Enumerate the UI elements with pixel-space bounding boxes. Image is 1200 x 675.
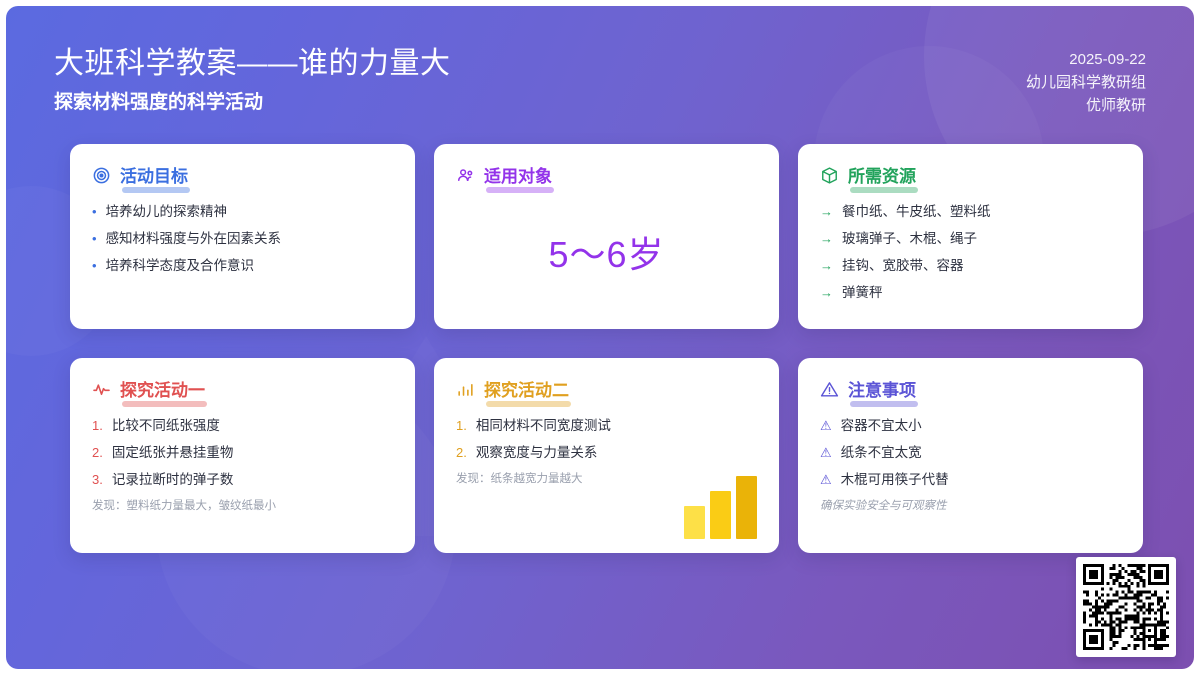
header-meta: 2025-09-22 幼儿园科学教研组 优师教研 bbox=[1026, 48, 1146, 117]
meta-brand: 优师教研 bbox=[1026, 94, 1146, 117]
bar-chart-icon bbox=[456, 380, 475, 399]
page-subtitle: 探索材料强度的科学活动 bbox=[54, 90, 1146, 116]
card-grid: 活动目标 • 培养幼儿的探索精神 • 感知材料强度与外在因素关系 • 培养科学态… bbox=[70, 144, 1143, 553]
cautions-list: ⚠ 容器不宜太小 ⚠ 纸条不宜太宽 ⚠ 木棍可用筷子代替 bbox=[820, 417, 1121, 489]
bar-0 bbox=[684, 506, 705, 539]
activity-two-steps: 1. 相同材料不同宽度测试 2. 观察宽度与力量关系 bbox=[456, 417, 757, 462]
card-header: 探究活动二 bbox=[456, 376, 757, 403]
list-item-label: 记录拉断时的弹子数 bbox=[112, 471, 234, 489]
list-item: • 培养科学态度及合作意识 bbox=[92, 257, 393, 275]
card-title: 探究活动一 bbox=[120, 376, 205, 403]
card-header: 所需资源 bbox=[820, 162, 1121, 189]
age-range-badge: 5～6岁 bbox=[434, 226, 779, 278]
warning-triangle-icon: ⚠ bbox=[820, 417, 832, 435]
target-icon bbox=[92, 166, 111, 185]
box-icon bbox=[820, 166, 839, 185]
list-item: → 玻璃弹子、木棍、绳子 bbox=[820, 230, 1121, 248]
card-title: 探究活动二 bbox=[484, 376, 569, 403]
list-item-label: 弹簧秤 bbox=[842, 284, 883, 302]
list-item: 1. 比较不同纸张强度 bbox=[92, 417, 393, 435]
card-activity-one[interactable]: 探究活动一 1. 比较不同纸张强度 2. 固定纸张并悬挂重物 3. 记录拉断时的… bbox=[70, 358, 415, 553]
list-item: 3. 记录拉断时的弹子数 bbox=[92, 471, 393, 489]
arrow-right-icon: → bbox=[820, 230, 833, 248]
list-item-label: 培养幼儿的探索精神 bbox=[106, 203, 228, 221]
list-item-label: 木棍可用筷子代替 bbox=[841, 471, 949, 489]
card-header: 探究活动一 bbox=[92, 376, 393, 403]
step-number: 2. bbox=[92, 444, 103, 462]
step-number: 1. bbox=[92, 417, 103, 435]
card-title: 适用对象 bbox=[484, 162, 552, 189]
bullet-dot-icon: • bbox=[92, 230, 97, 248]
card-objectives[interactable]: 活动目标 • 培养幼儿的探索精神 • 感知材料强度与外在因素关系 • 培养科学态… bbox=[70, 144, 415, 329]
step-number: 1. bbox=[456, 417, 467, 435]
list-item: ⚠ 容器不宜太小 bbox=[820, 417, 1121, 435]
list-item: ⚠ 木棍可用筷子代替 bbox=[820, 471, 1121, 489]
list-item: 1. 相同材料不同宽度测试 bbox=[456, 417, 757, 435]
list-item-label: 餐巾纸、牛皮纸、塑料纸 bbox=[842, 203, 991, 221]
objectives-list: • 培养幼儿的探索精神 • 感知材料强度与外在因素关系 • 培养科学态度及合作意… bbox=[92, 203, 393, 275]
card-cautions[interactable]: 注意事项 ⚠ 容器不宜太小 ⚠ 纸条不宜太宽 ⚠ 木棍可用筷子代替 确保实验安全… bbox=[798, 358, 1143, 553]
card-audience[interactable]: 适用对象 5～6岁 bbox=[434, 144, 779, 329]
card-header: 注意事项 bbox=[820, 376, 1121, 403]
bar-1 bbox=[710, 491, 731, 539]
mini-bar-chart bbox=[684, 473, 757, 539]
list-item-label: 纸条不宜太宽 bbox=[841, 444, 922, 462]
activity-one-steps: 1. 比较不同纸张强度 2. 固定纸张并悬挂重物 3. 记录拉断时的弹子数 bbox=[92, 417, 393, 489]
warning-triangle-icon bbox=[820, 380, 839, 399]
card-title: 注意事项 bbox=[848, 376, 916, 403]
slide-canvas: 大班科学教案——谁的力量大 探索材料强度的科学活动 2025-09-22 幼儿园… bbox=[6, 6, 1194, 669]
finding-note: 发现：塑料纸力量最大，皱纹纸最小 bbox=[92, 498, 393, 514]
meta-org: 幼儿园科学教研组 bbox=[1026, 71, 1146, 94]
list-item-label: 培养科学态度及合作意识 bbox=[106, 257, 255, 275]
card-header: 适用对象 bbox=[456, 162, 757, 189]
resources-list: → 餐巾纸、牛皮纸、塑料纸 → 玻璃弹子、木棍、绳子 → 挂钩、宽胶带、容器 →… bbox=[820, 203, 1121, 302]
qr-code-image bbox=[1083, 564, 1169, 650]
step-number: 3. bbox=[92, 471, 103, 489]
card-resources[interactable]: 所需资源 → 餐巾纸、牛皮纸、塑料纸 → 玻璃弹子、木棍、绳子 → 挂钩、宽胶带… bbox=[798, 144, 1143, 329]
list-item: → 挂钩、宽胶带、容器 bbox=[820, 257, 1121, 275]
warning-triangle-icon: ⚠ bbox=[820, 471, 832, 489]
arrow-right-icon: → bbox=[820, 257, 833, 275]
list-item-label: 挂钩、宽胶带、容器 bbox=[842, 257, 964, 275]
list-item: 2. 固定纸张并悬挂重物 bbox=[92, 444, 393, 462]
list-item-label: 感知材料强度与外在因素关系 bbox=[106, 230, 282, 248]
meta-date: 2025-09-22 bbox=[1026, 48, 1146, 71]
list-item: → 弹簧秤 bbox=[820, 284, 1121, 302]
list-item: → 餐巾纸、牛皮纸、塑料纸 bbox=[820, 203, 1121, 221]
arrow-right-icon: → bbox=[820, 284, 833, 302]
list-item: • 培养幼儿的探索精神 bbox=[92, 203, 393, 221]
step-number: 2. bbox=[456, 444, 467, 462]
arrow-right-icon: → bbox=[820, 203, 833, 221]
list-item: ⚠ 纸条不宜太宽 bbox=[820, 444, 1121, 462]
pulse-icon bbox=[92, 380, 111, 399]
bullet-dot-icon: • bbox=[92, 203, 97, 221]
list-item-label: 比较不同纸张强度 bbox=[112, 417, 220, 435]
card-title: 活动目标 bbox=[120, 162, 188, 189]
page-title: 大班科学教案——谁的力量大 bbox=[54, 44, 1146, 84]
list-item-label: 观察宽度与力量关系 bbox=[476, 444, 598, 462]
safety-note: 确保实验安全与可观察性 bbox=[820, 498, 1121, 514]
users-icon bbox=[456, 166, 475, 185]
bullet-dot-icon: • bbox=[92, 257, 97, 275]
list-item-label: 固定纸张并悬挂重物 bbox=[112, 444, 234, 462]
bar-2 bbox=[736, 476, 757, 539]
card-title: 所需资源 bbox=[848, 162, 916, 189]
list-item-label: 相同材料不同宽度测试 bbox=[476, 417, 611, 435]
warning-triangle-icon: ⚠ bbox=[820, 444, 832, 462]
list-item: • 感知材料强度与外在因素关系 bbox=[92, 230, 393, 248]
card-header: 活动目标 bbox=[92, 162, 393, 189]
slide-header: 大班科学教案——谁的力量大 探索材料强度的科学活动 2025-09-22 幼儿园… bbox=[54, 44, 1146, 130]
list-item: 2. 观察宽度与力量关系 bbox=[456, 444, 757, 462]
qr-code[interactable] bbox=[1076, 557, 1176, 657]
list-item-label: 玻璃弹子、木棍、绳子 bbox=[842, 230, 977, 248]
card-activity-two[interactable]: 探究活动二 1. 相同材料不同宽度测试 2. 观察宽度与力量关系 发现：纸条越宽… bbox=[434, 358, 779, 553]
list-item-label: 容器不宜太小 bbox=[841, 417, 922, 435]
